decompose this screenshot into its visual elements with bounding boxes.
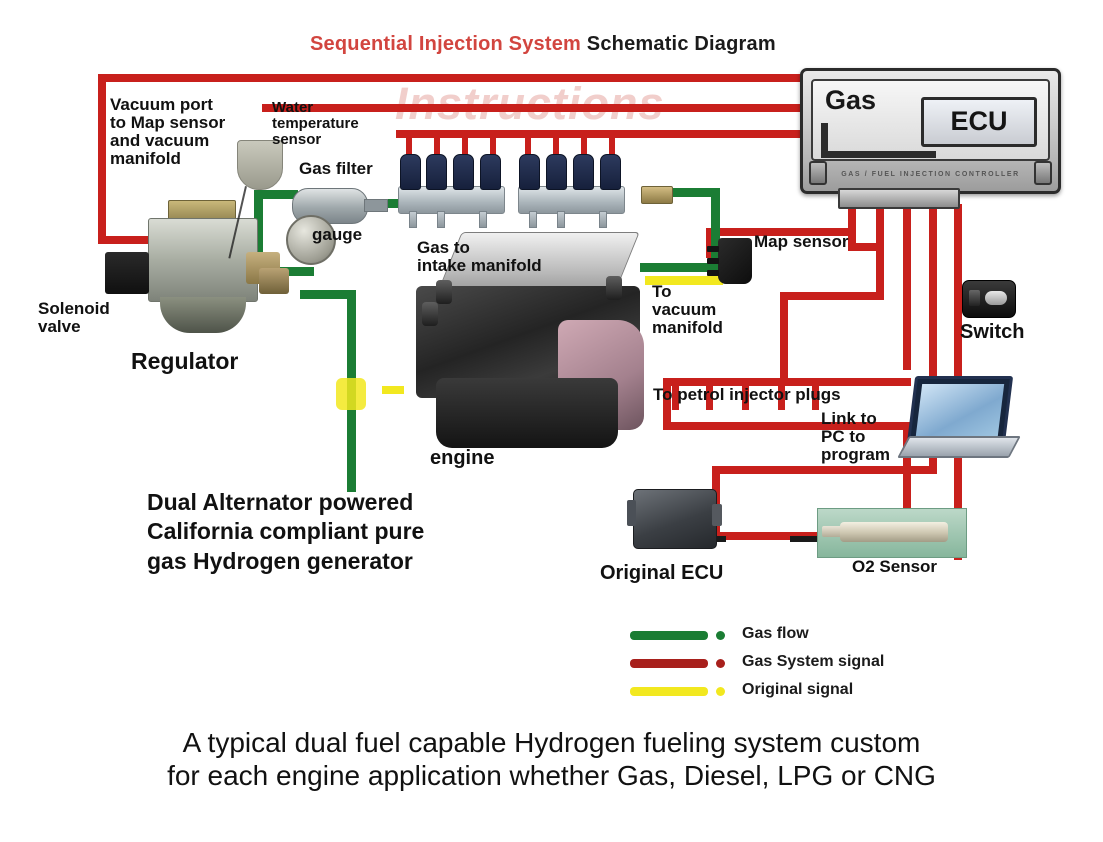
map-sensor-pin [707, 258, 719, 264]
label-to-petrol-injector-plugs: To petrol injector plugs [653, 386, 841, 404]
injector [600, 154, 621, 190]
page-title: Sequential Injection System Schematic Di… [310, 33, 776, 56]
injector-rail-b [518, 186, 625, 214]
injector-nipple [599, 211, 607, 228]
regulator-body [148, 218, 258, 302]
legend-label-original-signal: Original signal [742, 681, 853, 699]
injector [573, 154, 594, 190]
red-wire-mid-join [780, 292, 884, 300]
label-engine: engine [430, 448, 494, 469]
label-vacuum-port: Vacuum port to Map sensor and vacuum man… [110, 96, 225, 167]
label-o2-sensor: O2 Sensor [852, 558, 937, 576]
title-highlight: Sequential Injection System [310, 33, 581, 55]
ecu-micro-text: GAS / FUEL INJECTION CONTROLLER [803, 171, 1058, 178]
solenoid-valve-device [105, 252, 149, 294]
injector [480, 154, 501, 190]
label-gauge: gauge [312, 226, 362, 244]
ecu-screw [1034, 161, 1052, 185]
caption-line-1: A typical dual fuel capable Hydrogen fue… [0, 726, 1103, 759]
label-solenoid-valve: Solenoid valve [38, 300, 110, 336]
label-to-vacuum-manifold: To vacuum manifold [652, 283, 723, 337]
ecu-nameplate: ECU [921, 97, 1037, 147]
ecu-label: ECU [924, 106, 1034, 137]
legend-dot-gas-flow [716, 631, 725, 640]
label-map-sensor: Map sensor [754, 233, 848, 251]
red-wire-ecu-join-1 [848, 243, 882, 251]
regulator-brass-valve-2 [259, 268, 289, 294]
gas-filter-outlet [364, 199, 388, 212]
legend-swatch-gas-flow [630, 631, 708, 640]
caption: A typical dual fuel capable Hydrogen fue… [0, 726, 1103, 792]
injector [519, 154, 540, 190]
ecu-screw [809, 161, 827, 185]
injector [426, 154, 447, 190]
label-gas-filter: Gas filter [299, 160, 373, 178]
red-wire-ecu-drop-3 [903, 204, 911, 370]
regulator-bowl [160, 297, 246, 333]
legend-label-gas-flow: Gas flow [742, 625, 809, 643]
caption-line-2: for each engine application whether Gas,… [0, 759, 1103, 792]
engine-stud [436, 280, 452, 304]
legend-swatch-gas-system-signal [630, 659, 708, 668]
injector-rail-a [398, 186, 505, 214]
original-ecu-device[interactable] [633, 489, 717, 549]
red-wire-injector-bus-2 [396, 130, 810, 138]
o2-sensor-photo [817, 508, 967, 558]
label-generator: Dual Alternator powered California compl… [147, 488, 424, 576]
o2-sensor-body [840, 522, 948, 542]
legend-swatch-original-signal [630, 687, 708, 696]
engine-sump [436, 378, 618, 448]
injector-nipple [479, 211, 487, 228]
legend-dot-gas-system-signal [716, 659, 725, 668]
red-wire-top-bus [98, 74, 810, 82]
title-rest: Schematic Diagram [581, 33, 776, 55]
map-sensor-pin [707, 246, 719, 252]
injector [400, 154, 421, 190]
injector-nipple [409, 211, 417, 228]
legend-label-gas-system-signal: Gas System signal [742, 653, 884, 671]
water-temperature-sensor-device [237, 140, 283, 190]
injector-nipple [437, 211, 445, 228]
laptop-keyboard-base [897, 436, 1021, 458]
legend-dot-original-signal [716, 687, 725, 696]
laptop-device[interactable] [903, 376, 1011, 468]
gas-fitting [641, 186, 673, 204]
map-sensor-device [718, 238, 752, 284]
red-wire-left-vertical [98, 74, 106, 244]
red-wire-mid-drop [780, 292, 788, 386]
ecu-connector [838, 188, 960, 209]
label-switch: Switch [960, 322, 1024, 343]
ecu-bracket-shape [821, 123, 936, 158]
ecu-gas-label: Gas [825, 85, 876, 116]
gas-ecu-device[interactable]: Gas ECU GAS / FUEL INJECTION CONTROLLER [800, 68, 1061, 194]
label-regulator: Regulator [131, 349, 238, 373]
engine-stud [606, 276, 622, 300]
injector [546, 154, 567, 190]
injector-nipple [557, 211, 565, 228]
label-original-ecu: Original ECU [600, 563, 723, 584]
red-wire-ecu-drop-2 [876, 204, 884, 300]
engine-stud [422, 302, 438, 326]
map-sensor-pin [707, 270, 719, 276]
laptop-screen-content [916, 384, 1004, 436]
label-link-to-pc: Link to PC to program [821, 410, 890, 464]
schematic-diagram: Sequential Injection System Schematic Di… [0, 0, 1103, 842]
yellow-line-highlight-1 [336, 378, 366, 410]
label-gas-to-intake: Gas to intake manifold [417, 239, 542, 275]
laptop-screen [907, 376, 1013, 444]
injector [453, 154, 474, 190]
label-water-temp: Water temperature sensor [272, 100, 359, 147]
injector-nipple [529, 211, 537, 228]
switch-device[interactable] [962, 280, 1016, 318]
